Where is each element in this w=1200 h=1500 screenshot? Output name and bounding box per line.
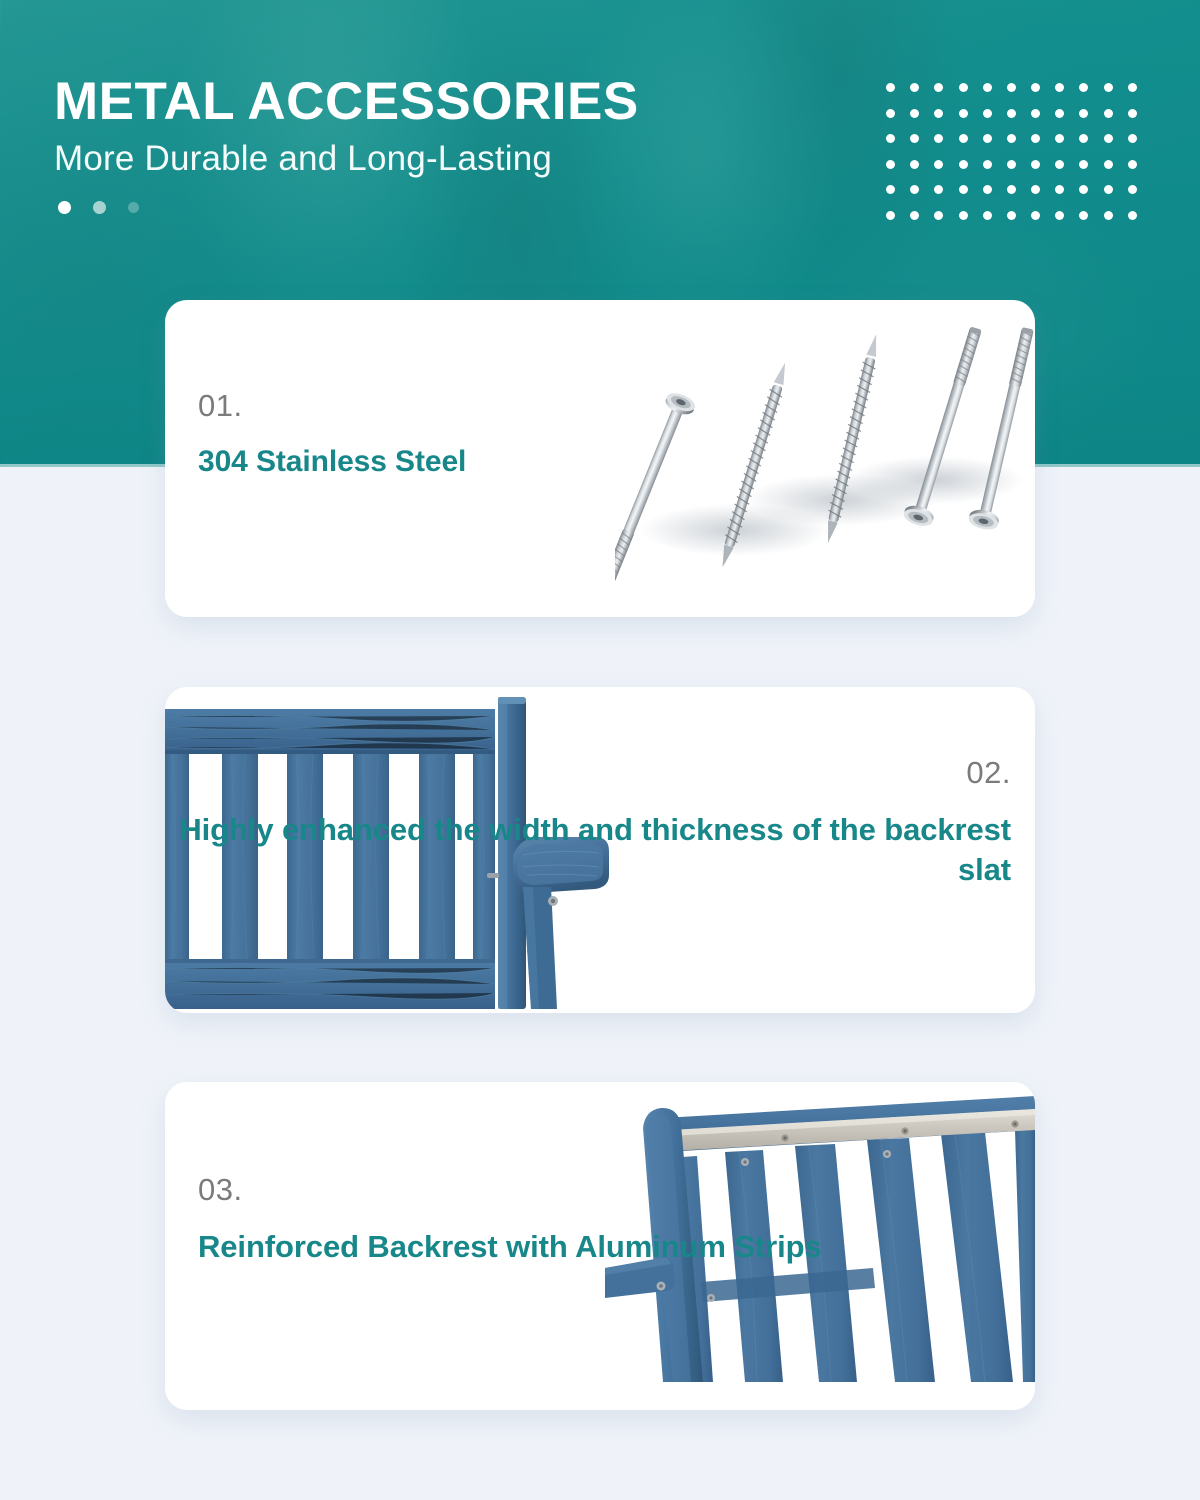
decorative-dot: [1079, 109, 1088, 118]
decorative-dot: [1104, 83, 1113, 92]
feature-card-3: 03. Reinforced Backrest with Aluminum St…: [165, 1082, 1035, 1410]
decorative-dot: [983, 160, 992, 169]
decorative-dot: [1007, 134, 1016, 143]
decorative-dot: [1128, 160, 1137, 169]
decorative-dot: [886, 134, 895, 143]
feature-card-2: 02. Highly enhanced the width and thickn…: [165, 687, 1035, 1013]
decorative-dot: [1007, 109, 1016, 118]
decorative-dot: [886, 83, 895, 92]
decorative-dot: [1104, 185, 1113, 194]
decorative-dot: [1031, 211, 1040, 220]
decorative-dot: [1055, 83, 1064, 92]
decorative-dot: [1079, 211, 1088, 220]
decorative-dot: [886, 160, 895, 169]
decorative-dot: [1128, 185, 1137, 194]
decorative-dot: [1079, 83, 1088, 92]
decorative-dot: [1031, 83, 1040, 92]
card-1-heading: 304 Stainless Steel: [198, 443, 466, 481]
decorative-dot: [886, 109, 895, 118]
card-3-heading: Reinforced Backrest with Aluminum Strips: [198, 1227, 822, 1267]
decorative-dot: [934, 185, 943, 194]
decorative-dot: [1055, 160, 1064, 169]
card-2-index: 02.: [165, 757, 1011, 788]
decorative-dot: [1128, 109, 1137, 118]
decorative-dot: [1104, 211, 1113, 220]
decorative-dot: [1128, 83, 1137, 92]
decorative-dot: [1007, 160, 1016, 169]
decorative-dot: [934, 109, 943, 118]
decorative-dot: [1055, 109, 1064, 118]
decorative-dot: [934, 211, 943, 220]
decorative-dot: [910, 211, 919, 220]
pagination-dots[interactable]: [54, 201, 639, 214]
decorative-dot: [983, 134, 992, 143]
decorative-dot: [1031, 185, 1040, 194]
decorative-dot: [959, 109, 968, 118]
page-title: METAL ACCESSORIES: [54, 74, 639, 130]
decorative-dot: [983, 83, 992, 92]
stainless-steel-screws-image: [615, 300, 1035, 617]
card-1-copy: 01. 304 Stainless Steel: [198, 390, 466, 481]
decorative-dot: [1031, 134, 1040, 143]
decorative-dot: [1128, 134, 1137, 143]
card-2-heading: Highly enhanced the width and thickness …: [165, 810, 1011, 889]
hero-text-block: METAL ACCESSORIES More Durable and Long-…: [54, 74, 639, 214]
decorative-dot: [910, 109, 919, 118]
decorative-dot: [1128, 211, 1137, 220]
decorative-dot: [983, 185, 992, 194]
decorative-dot: [910, 83, 919, 92]
pagination-dot-3[interactable]: [128, 202, 139, 213]
decorative-dot: [1055, 211, 1064, 220]
decorative-dot: [934, 160, 943, 169]
decorative-dot: [1031, 109, 1040, 118]
decorative-dot: [959, 185, 968, 194]
decorative-dot: [1007, 211, 1016, 220]
decorative-dot: [1007, 83, 1016, 92]
decorative-dot: [934, 83, 943, 92]
decorative-dot: [886, 185, 895, 194]
decorative-dot: [983, 211, 992, 220]
decorative-dot: [1007, 185, 1016, 194]
decorative-dot: [959, 83, 968, 92]
card-2-copy: 02. Highly enhanced the width and thickn…: [165, 757, 1011, 889]
decorative-dot: [1055, 185, 1064, 194]
decorative-dot: [1079, 185, 1088, 194]
feature-card-1: 01. 304 Stainless Steel: [165, 300, 1035, 617]
card-3-copy: 03. Reinforced Backrest with Aluminum St…: [198, 1174, 822, 1267]
decorative-dot: [910, 134, 919, 143]
decorative-dot: [959, 211, 968, 220]
decorative-dot: [934, 134, 943, 143]
decorative-dot: [1104, 134, 1113, 143]
decorative-dot: [1104, 160, 1113, 169]
decorative-dot: [1031, 160, 1040, 169]
decorative-dot: [1079, 134, 1088, 143]
page-subtitle: More Durable and Long-Lasting: [54, 140, 639, 179]
decorative-dot: [959, 134, 968, 143]
decorative-dot: [1055, 134, 1064, 143]
decorative-dot: [910, 185, 919, 194]
decorative-dot: [983, 109, 992, 118]
card-1-index: 01.: [198, 390, 466, 421]
decorative-dot: [1079, 160, 1088, 169]
decorative-dot: [910, 160, 919, 169]
card-3-index: 03.: [198, 1174, 822, 1205]
decorative-dot: [886, 211, 895, 220]
pagination-dot-2[interactable]: [93, 201, 106, 214]
decorative-dot: [1104, 109, 1113, 118]
decorative-dot: [959, 160, 968, 169]
decorative-dot-grid: [886, 83, 1152, 236]
pagination-dot-active[interactable]: [58, 201, 71, 214]
